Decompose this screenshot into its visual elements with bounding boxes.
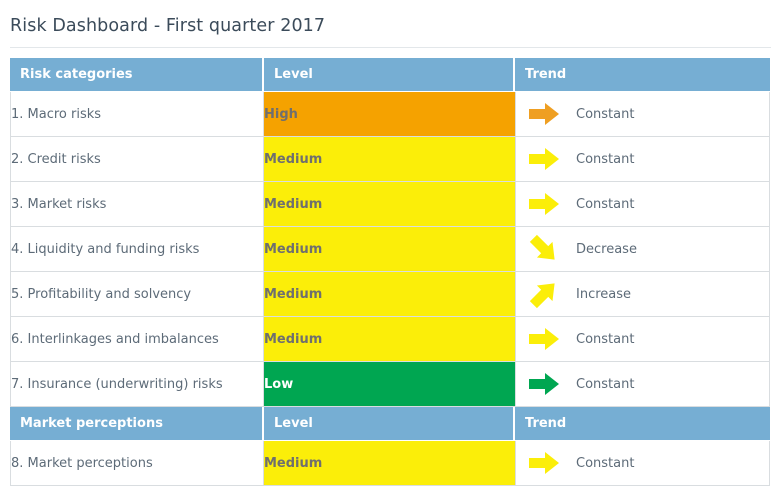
risk-trend-cell: Increase: [515, 272, 770, 317]
table-header-trend: Trend: [515, 58, 770, 92]
table-row: 5. Profitability and solvencyMediumIncre…: [10, 272, 770, 317]
table-row: 7. Insurance (underwriting) risksLowCons…: [10, 362, 770, 407]
risk-category-cell: 6. Interlinkages and imbalances: [10, 317, 264, 362]
risk-trend-cell: Constant: [515, 92, 770, 137]
risk-trend-cell: Constant: [515, 182, 770, 227]
arrow-right-icon: [528, 450, 560, 476]
trend-label: Constant: [576, 152, 634, 167]
arrow-up-right-icon: [523, 273, 564, 314]
title-divider: [10, 47, 771, 48]
table-header-row: Risk categoriesLevelTrend: [10, 58, 770, 92]
trend-label: Constant: [576, 456, 634, 471]
risk-category-cell: 8. Market perceptions: [10, 441, 264, 486]
trend-label: Increase: [576, 287, 631, 302]
risk-level-cell: High: [264, 92, 515, 137]
trend-content: Decrease: [516, 236, 769, 262]
risk-trend-cell: Decrease: [515, 227, 770, 272]
table-header-trend: Trend: [515, 407, 770, 441]
risk-category-cell: 3. Market risks: [10, 182, 264, 227]
risk-trend-cell: Constant: [515, 137, 770, 182]
risk-category-cell: 2. Credit risks: [10, 137, 264, 182]
trend-content: Constant: [516, 326, 769, 352]
arrow-right-icon: [528, 191, 560, 217]
risk-level-cell: Medium: [264, 182, 515, 227]
trend-content: Constant: [516, 101, 769, 127]
trend-content: Increase: [516, 281, 769, 307]
table-header-level: Level: [264, 58, 515, 92]
table-header-category: Risk categories: [10, 58, 264, 92]
trend-content: Constant: [516, 191, 769, 217]
table-header-row: Market perceptionsLevelTrend: [10, 407, 770, 441]
risk-dashboard-table: Risk categoriesLevelTrend1. Macro risksH…: [10, 58, 770, 486]
table-row: 2. Credit risksMediumConstant: [10, 137, 770, 182]
risk-level-cell: Medium: [264, 227, 515, 272]
trend-label: Constant: [576, 377, 634, 392]
risk-level-cell: Low: [264, 362, 515, 407]
table-row: 8. Market perceptionsMediumConstant: [10, 441, 770, 486]
trend-label: Constant: [576, 197, 634, 212]
table-row: 4. Liquidity and funding risksMediumDecr…: [10, 227, 770, 272]
arrow-right-icon: [528, 146, 560, 172]
trend-label: Decrease: [576, 242, 637, 257]
risk-level-cell: Medium: [264, 137, 515, 182]
table-row: 3. Market risksMediumConstant: [10, 182, 770, 227]
trend-label: Constant: [576, 332, 634, 347]
table-header-level: Level: [264, 407, 515, 441]
trend-content: Constant: [516, 371, 769, 397]
risk-category-cell: 7. Insurance (underwriting) risks: [10, 362, 264, 407]
trend-content: Constant: [516, 146, 769, 172]
trend-content: Constant: [516, 450, 769, 476]
risk-trend-cell: Constant: [515, 441, 770, 486]
table-row: 1. Macro risksHighConstant: [10, 92, 770, 137]
arrow-right-icon: [528, 326, 560, 352]
risk-category-cell: 5. Profitability and solvency: [10, 272, 264, 317]
arrow-right-icon: [528, 371, 560, 397]
page-title: Risk Dashboard - First quarter 2017: [10, 16, 325, 36]
trend-label: Constant: [576, 107, 634, 122]
risk-category-cell: 1. Macro risks: [10, 92, 264, 137]
risk-trend-cell: Constant: [515, 362, 770, 407]
risk-trend-cell: Constant: [515, 317, 770, 362]
risk-category-cell: 4. Liquidity and funding risks: [10, 227, 264, 272]
risk-dashboard-page: Risk Dashboard - First quarter 2017 Risk…: [0, 0, 781, 501]
risk-level-cell: Medium: [264, 317, 515, 362]
arrow-down-right-icon: [523, 228, 564, 269]
table-header-category: Market perceptions: [10, 407, 264, 441]
risk-level-cell: Medium: [264, 441, 515, 486]
table-row: 6. Interlinkages and imbalancesMediumCon…: [10, 317, 770, 362]
arrow-right-icon: [528, 101, 560, 127]
risk-level-cell: Medium: [264, 272, 515, 317]
